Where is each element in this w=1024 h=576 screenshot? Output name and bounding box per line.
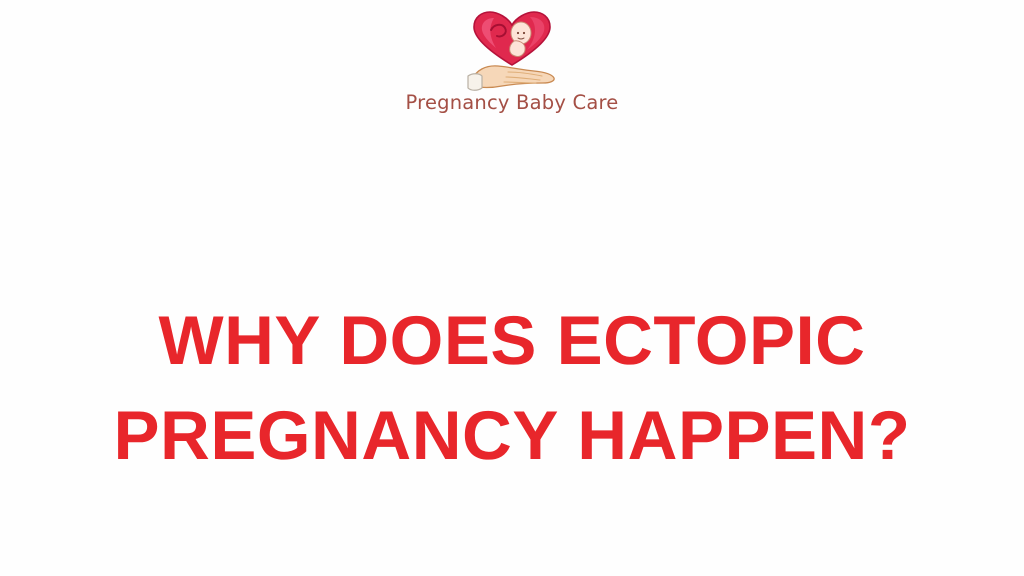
title-slide: Pregnancy Baby Care WHY DOES ECTOPIC PRE… (0, 0, 1024, 576)
page-title: WHY DOES ECTOPIC PREGNANCY HAPPEN? (0, 293, 1024, 483)
brand-logo: Pregnancy Baby Care (397, 8, 627, 113)
heart-baby-in-hand-icon (464, 8, 560, 92)
brand-wordmark: Pregnancy Baby Care (406, 93, 619, 113)
